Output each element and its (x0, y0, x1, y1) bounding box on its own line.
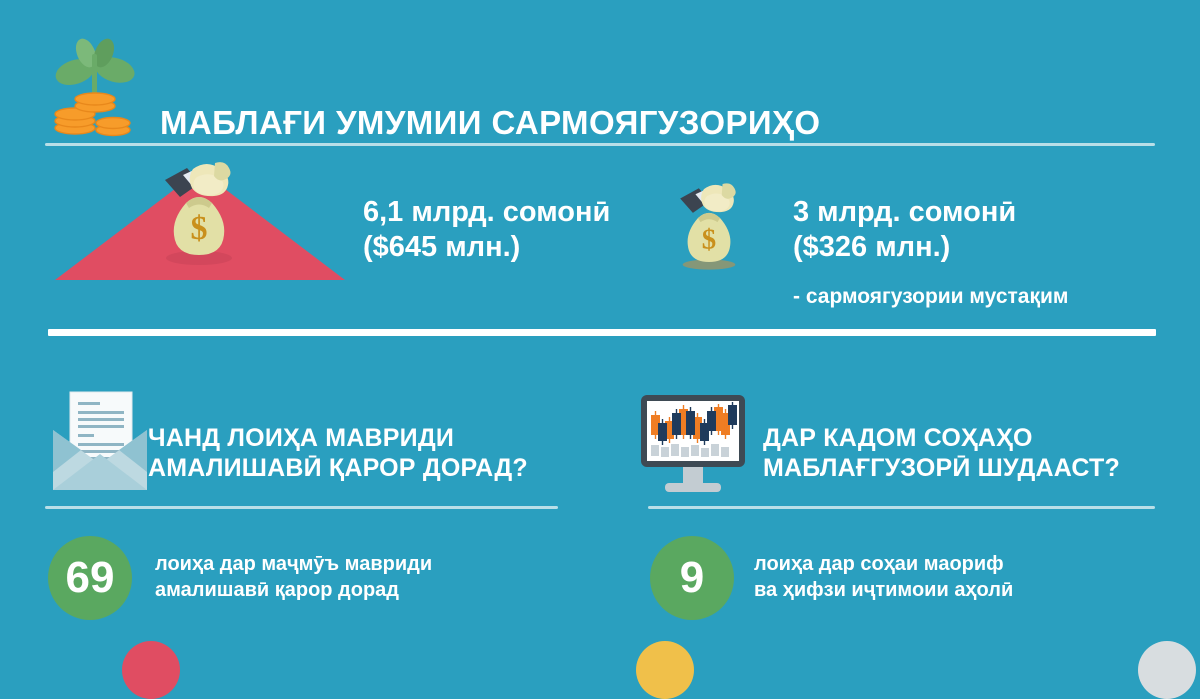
money-bag-hand-icon: $ (670, 177, 748, 275)
section-title-projects: ЧАНД ЛОИҲА МАВРИДИ АМАЛИШАВӢ ҚАРОР ДОРАД… (148, 423, 528, 483)
amount-local: 3 млрд. сомонӣ (793, 195, 1016, 230)
stat-text-line1: лоиҳа дар маҷмӯъ мавриди (155, 551, 432, 577)
section-title-line1: ДАР КАДОМ СОҲАҲО (763, 423, 1120, 453)
divider-main (48, 329, 1156, 336)
stat-text-line1: лоиҳа дар соҳаи маориф (754, 551, 1013, 577)
investment-block-total: $ 6,1 млрд. сомонӣ ($645 млн.) (55, 170, 555, 310)
stat-text-line2: ва ҳифзи иҷтимоии аҳолӣ (754, 577, 1013, 603)
stat-value: 9 (680, 553, 704, 603)
svg-text:$: $ (191, 210, 208, 247)
svg-text:$: $ (702, 223, 716, 255)
investment-block-direct: $ 3 млрд. сомонӣ ($326 млн.) - сармоягуз… (610, 202, 1170, 312)
amount-local: 6,1 млрд. сомонӣ (363, 195, 610, 230)
page-title: МАБЛАҒИ УМУМИИ САРМОЯГУЗОРИҲО (160, 106, 820, 139)
stat-circle-projects: 69 (48, 536, 132, 620)
money-bag-hand-icon: $ (153, 155, 245, 265)
infographic-canvas: МАБЛАҒИ УМУМИИ САРМОЯГУЗОРИҲО $ 6,1 млрд… (0, 0, 1200, 649)
amount-usd: ($326 млн.) (793, 230, 1016, 265)
investment-direct-note: - сармоягузории мустақим (793, 285, 1068, 309)
section-title-line1: ЧАНД ЛОИҲА МАВРИДИ (148, 423, 528, 453)
stat-circle-sectors: 9 (650, 536, 734, 620)
plant-coins-icon (45, 36, 145, 146)
envelope-document-icon (48, 390, 153, 495)
amount-usd: ($645 млн.) (363, 230, 610, 265)
peek-circle-yellow (636, 641, 694, 699)
divider-section-projects (45, 506, 558, 509)
header: МАБЛАҒИ УМУМИИ САРМОЯГУЗОРИҲО (0, 26, 1200, 136)
section-title-sectors: ДАР КАДОМ СОҲАҲО МАБЛАҒГУЗОРӢ ШУДААСТ? (763, 423, 1120, 483)
peek-circle-gray (1138, 641, 1196, 699)
divider-section-sectors (648, 506, 1155, 509)
peek-circle-pink (122, 641, 180, 699)
investment-total-amount: 6,1 млрд. сомонӣ ($645 млн.) (363, 195, 610, 266)
monitor-candlestick-chart-icon (633, 393, 753, 498)
stat-text-sectors: лоиҳа дар соҳаи маориф ва ҳифзи иҷтимоии… (754, 551, 1013, 604)
stat-text-line2: амалишавӣ қарор дорад (155, 577, 432, 603)
section-title-line2: АМАЛИШАВӢ ҚАРОР ДОРАД? (148, 453, 528, 483)
section-title-line2: МАБЛАҒГУЗОРӢ ШУДААСТ? (763, 453, 1120, 483)
divider-under-title (45, 143, 1155, 146)
stat-text-projects: лоиҳа дар маҷмӯъ мавриди амалишавӣ қарор… (155, 551, 432, 604)
stat-value: 69 (66, 553, 115, 603)
investment-direct-amount: 3 млрд. сомонӣ ($326 млн.) (793, 195, 1016, 266)
